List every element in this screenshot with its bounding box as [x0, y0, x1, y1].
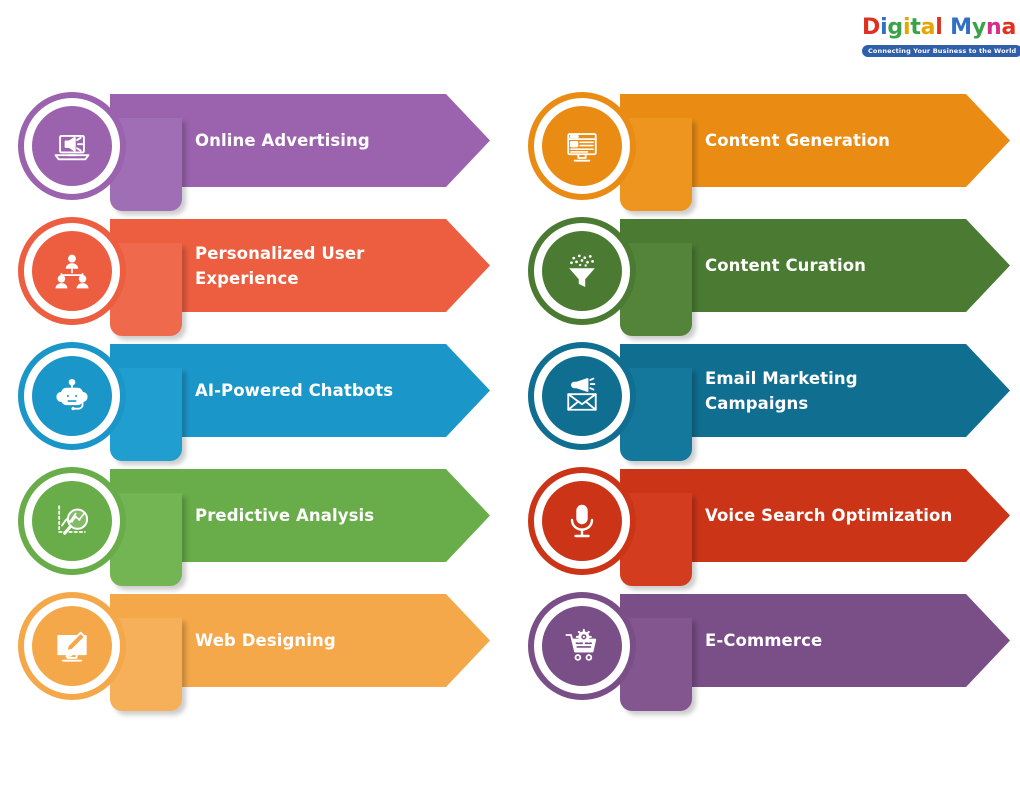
logo-letter: n: [986, 15, 1001, 40]
robot-headset-icon: [32, 356, 112, 436]
service-row[interactable]: Email Marketing Campaigns: [520, 338, 1020, 463]
logo-tagline: Connecting Your Business to the World: [862, 45, 1020, 57]
logo-letter: l: [935, 15, 942, 40]
service-icon-badge[interactable]: [18, 467, 126, 575]
logo-letter: t: [910, 15, 920, 40]
service-row[interactable]: Web Designing: [10, 588, 510, 713]
logo-letter: [943, 15, 950, 40]
service-icon-badge[interactable]: [18, 217, 126, 325]
service-icon-badge[interactable]: [18, 92, 126, 200]
service-row[interactable]: E-Commerce: [520, 588, 1020, 713]
user-group-icon: [32, 231, 112, 311]
service-label: AI-Powered Chatbots: [195, 378, 393, 403]
service-label: Content Generation: [705, 128, 890, 153]
service-icon-badge[interactable]: [18, 342, 126, 450]
service-label: Predictive Analysis: [195, 503, 374, 528]
service-row[interactable]: AI-Powered Chatbots: [10, 338, 510, 463]
monitor-pencil-icon: [32, 606, 112, 686]
funnel-icon: [542, 231, 622, 311]
left-column: Online Advertising Personalized User Exp…: [10, 88, 510, 713]
service-icon-badge[interactable]: [18, 592, 126, 700]
service-icon-badge[interactable]: [528, 342, 636, 450]
envelope-megaphone-icon: [542, 356, 622, 436]
service-label: Online Advertising: [195, 128, 370, 153]
service-label: Voice Search Optimization: [705, 503, 952, 528]
logo-letter: a: [921, 15, 936, 40]
brand-logo: Digital Myna Connecting Your Business to…: [858, 14, 1008, 61]
service-row[interactable]: Voice Search Optimization: [520, 463, 1020, 588]
service-row[interactable]: Content Curation: [520, 213, 1020, 338]
service-row[interactable]: Predictive Analysis: [10, 463, 510, 588]
logo-letter: D: [862, 15, 880, 40]
service-label: Content Curation: [705, 253, 866, 278]
service-row[interactable]: Personalized User Experience: [10, 213, 510, 338]
service-label: E-Commerce: [705, 628, 822, 653]
service-label: Email Marketing Campaigns: [705, 366, 954, 416]
service-icon-badge[interactable]: [528, 92, 636, 200]
service-icon-badge[interactable]: [528, 467, 636, 575]
shopping-cart-gear-icon: [542, 606, 622, 686]
logo-letter: a: [1001, 15, 1016, 40]
logo-letter: M: [950, 15, 972, 40]
laptop-megaphone-icon: [32, 106, 112, 186]
service-icon-badge[interactable]: [528, 217, 636, 325]
service-row[interactable]: Online Advertising: [10, 88, 510, 213]
chart-magnifier-icon: [32, 481, 112, 561]
logo-letter: y: [972, 15, 986, 40]
service-row[interactable]: Content Generation: [520, 88, 1020, 213]
logo-wordmark: Digital Myna: [862, 16, 1004, 40]
browser-content-icon: [542, 106, 622, 186]
logo-letter: g: [887, 15, 903, 40]
microphone-icon: [542, 481, 622, 561]
service-icon-badge[interactable]: [528, 592, 636, 700]
service-label: Web Designing: [195, 628, 336, 653]
service-label: Personalized User Experience: [195, 241, 434, 291]
right-column: Content Generation Content Curation Emai…: [520, 88, 1020, 713]
